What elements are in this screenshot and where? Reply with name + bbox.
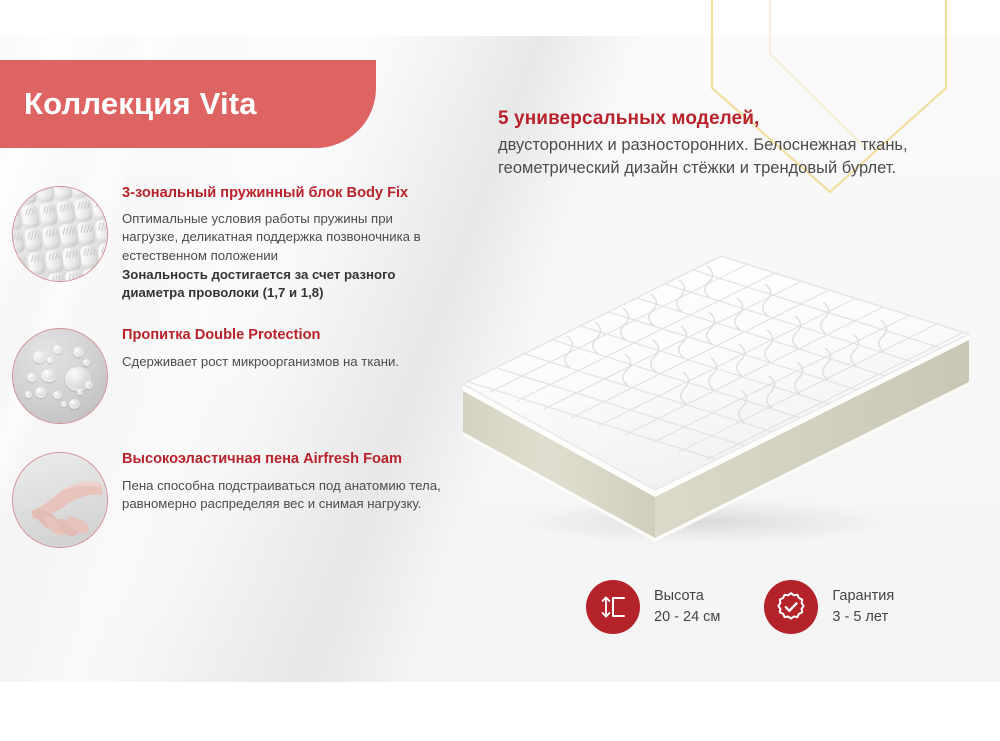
badge-circle — [586, 580, 640, 634]
feature-text: Пропитка Double Protection Сдерживает ро… — [108, 324, 399, 370]
badge-label: Высота — [654, 588, 704, 604]
page-title: Коллекция Vita — [0, 86, 257, 122]
feature-list: 3-зональный пружинный блок Body Fix Опти… — [12, 182, 452, 560]
feature-body: Сдерживает рост микроорганизмов на ткани… — [122, 353, 399, 371]
water-droplets-icon — [12, 328, 108, 424]
badge-circle — [764, 580, 818, 634]
badge-guarantee: Гарантия 3 - 5 лет — [764, 580, 894, 634]
badge-value: 3 - 5 лет — [832, 607, 894, 628]
feature-title: Высокоэластичная пена Airfresh Foam — [122, 450, 452, 469]
pocket-spring-block-icon — [12, 186, 108, 282]
feature-body: Оптимальные условия работы пружины при н… — [122, 210, 452, 302]
badge-text: Гарантия 3 - 5 лет — [832, 586, 894, 627]
feature-item: Пропитка Double Protection Сдерживает ро… — [12, 324, 452, 424]
height-arrow-icon — [597, 591, 629, 623]
guarantee-rosette-icon — [774, 590, 808, 624]
intro-lead: 5 универсальных моделей, — [498, 108, 968, 130]
feature-body-text: Оптимальные условия работы пружины при н… — [122, 211, 421, 262]
badge-height: Высота 20 - 24 см — [586, 580, 720, 634]
intro-body: двусторонних и разносторонних. Белоснежн… — [498, 134, 968, 181]
feature-item: 3-зональный пружинный блок Body Fix Опти… — [12, 182, 452, 302]
feature-text: 3-зональный пружинный блок Body Fix Опти… — [108, 182, 452, 302]
feature-body-text: Сдерживает рост микроорганизмов на ткани… — [122, 354, 399, 369]
spec-badges: Высота 20 - 24 см Гарантия 3 - 5 лет — [586, 580, 894, 634]
badge-value: 20 - 24 см — [654, 607, 720, 628]
feature-text: Высокоэластичная пена Airfresh Foam Пена… — [108, 448, 452, 513]
hand-on-foam-icon — [12, 452, 108, 548]
badge-label: Гарантия — [832, 588, 894, 604]
feature-body-emphasis: Зональность достигается за счет разного … — [122, 266, 452, 302]
mattress-illustration — [455, 250, 975, 560]
feature-body-text: Пена способна подстраиваться под анатоми… — [122, 478, 441, 511]
collection-banner: Коллекция Vita — [0, 60, 376, 148]
feature-body: Пена способна подстраиваться под анатоми… — [122, 477, 452, 513]
feature-item: Высокоэластичная пена Airfresh Foam Пена… — [12, 448, 452, 548]
infographic-canvas: Коллекция Vita 5 универсальных моделей, … — [0, 0, 1000, 741]
feature-title: 3-зональный пружинный блок Body Fix — [122, 184, 452, 203]
feature-title: Пропитка Double Protection — [122, 326, 399, 345]
badge-text: Высота 20 - 24 см — [654, 586, 720, 627]
intro-block: 5 универсальных моделей, двусторонних и … — [498, 108, 968, 181]
